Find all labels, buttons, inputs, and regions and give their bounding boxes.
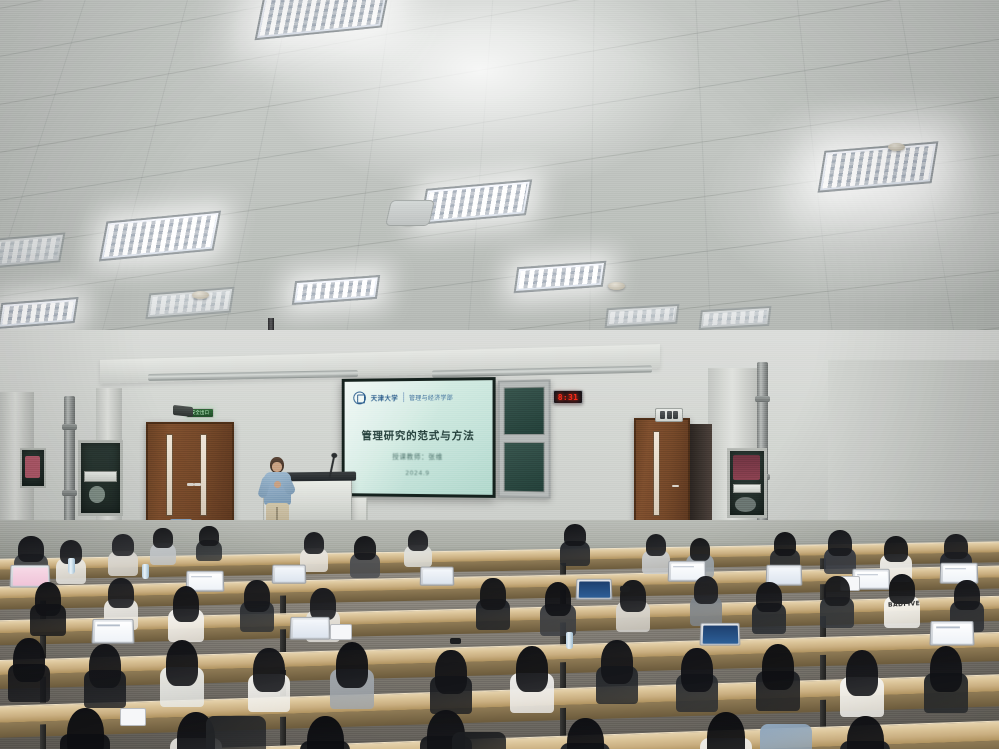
student — [560, 524, 590, 564]
light-switch-panel[interactable] — [655, 408, 683, 422]
student-hair — [408, 530, 429, 551]
student — [404, 530, 432, 566]
student — [596, 640, 638, 702]
student — [196, 526, 222, 560]
clock-time: 8:31 — [558, 393, 578, 402]
student — [924, 646, 968, 710]
lecturer-face — [272, 462, 282, 472]
student — [350, 536, 380, 576]
projection-screen: 天津大学 管理与经济学部 管理研究的范式与方法 授课教师：张维 2024.9 — [342, 377, 496, 498]
ceiling — [0, 0, 999, 372]
student-hair — [889, 574, 916, 604]
chalkboard-panel-upper — [504, 387, 545, 435]
student-hair — [774, 532, 796, 556]
student-hair — [681, 648, 712, 692]
student-hair — [944, 534, 968, 559]
lecturer-hand — [274, 481, 281, 488]
desk-leg — [560, 662, 566, 688]
tablet-device[interactable] — [330, 624, 352, 640]
student-hair — [690, 538, 711, 561]
student-hair — [707, 712, 745, 749]
student-hair — [108, 578, 133, 608]
slide-title: 管理研究的范式与方法 — [345, 428, 493, 443]
student — [820, 576, 854, 626]
student — [240, 580, 274, 630]
laptop[interactable] — [420, 567, 455, 586]
student — [60, 708, 110, 749]
laptop-lid — [91, 619, 134, 644]
phone-device[interactable] — [450, 638, 461, 644]
slide-surface: 天津大学 管理与经济学部 管理研究的范式与方法 授课教师：张维 2024.9 — [345, 380, 493, 495]
student — [300, 716, 350, 749]
switch-toggle[interactable] — [660, 411, 665, 419]
desk-leg — [40, 724, 46, 749]
student — [510, 646, 554, 710]
student-hair — [620, 580, 645, 612]
student — [824, 530, 856, 572]
notice-board-left — [78, 440, 123, 516]
student-hair — [435, 650, 466, 694]
water-bottle — [68, 558, 75, 574]
student — [676, 648, 718, 710]
student-hair — [173, 586, 200, 622]
student — [840, 716, 890, 749]
student-hair — [199, 526, 218, 546]
student — [840, 650, 884, 714]
student-hair — [304, 532, 325, 554]
student-hair — [762, 644, 795, 690]
laptop[interactable] — [91, 619, 134, 644]
student-hair — [545, 582, 572, 616]
laptop[interactable] — [576, 579, 613, 600]
student — [476, 578, 510, 628]
student — [8, 638, 50, 700]
laptop-screen[interactable] — [932, 623, 972, 643]
student-hair — [601, 640, 632, 684]
laptop-screen[interactable] — [94, 621, 132, 641]
student-hair — [824, 576, 849, 606]
student-hair — [67, 708, 104, 749]
laptop-screen[interactable] — [292, 619, 328, 637]
laptop-lid — [700, 623, 741, 646]
student-hair — [564, 524, 586, 546]
student-hair — [35, 582, 62, 616]
school-name: 管理与经济学部 — [409, 392, 453, 401]
university-name: 天津大学 — [371, 392, 398, 402]
desk-leg — [820, 700, 826, 729]
desk-leg — [820, 655, 826, 681]
laptop-screen[interactable] — [942, 565, 976, 581]
tablet-device[interactable] — [120, 708, 146, 726]
backpack — [452, 732, 506, 749]
desk-leg — [280, 717, 286, 746]
water-bottle — [566, 632, 573, 649]
student-hair — [828, 530, 852, 556]
student-hair — [153, 528, 172, 548]
student — [430, 650, 472, 712]
student — [248, 648, 290, 710]
laptop-screen[interactable] — [578, 581, 610, 597]
student-hair — [516, 646, 549, 692]
laptop[interactable] — [929, 621, 974, 646]
smoke-detector-icon — [192, 291, 209, 299]
student — [700, 712, 752, 749]
chalkboard — [498, 379, 551, 498]
laptop-lid — [290, 617, 331, 640]
student — [690, 576, 722, 624]
student-hair — [694, 576, 718, 604]
laptop[interactable] — [272, 565, 307, 584]
header-divider — [403, 392, 404, 402]
student-hair — [112, 534, 134, 556]
student-hair — [336, 642, 369, 688]
student — [642, 534, 670, 572]
switch-toggle[interactable] — [667, 411, 672, 419]
student-hair — [354, 536, 376, 560]
student-hair — [930, 646, 963, 692]
smoke-detector-icon — [888, 143, 905, 151]
ceiling-vent — [385, 200, 435, 226]
student-hair — [847, 716, 884, 749]
slide-subtitle: 授课教师：张维 — [345, 451, 493, 462]
student-hair — [13, 638, 44, 682]
laptop-screen[interactable] — [274, 567, 303, 581]
student-hair — [567, 718, 604, 749]
backpack — [206, 716, 266, 749]
student — [30, 582, 66, 634]
student — [540, 582, 576, 634]
backpack — [760, 724, 812, 749]
laptop[interactable] — [290, 617, 331, 640]
student-hair — [646, 534, 667, 556]
student — [330, 642, 374, 706]
student-hair — [884, 536, 908, 562]
laptop-lid — [576, 579, 613, 600]
student-hair — [846, 650, 879, 696]
student — [150, 528, 176, 564]
student-hair — [954, 580, 979, 610]
switch-toggle[interactable] — [673, 411, 678, 419]
digital-clock: 8:31 — [553, 390, 583, 404]
notice-board-right — [727, 448, 767, 518]
laptop-screen[interactable] — [422, 569, 451, 583]
student-hair — [310, 588, 335, 620]
student — [560, 718, 610, 749]
laptop[interactable] — [700, 623, 741, 646]
student-hair — [756, 582, 781, 612]
student — [756, 644, 800, 708]
lecture-hall-photo: 安全出口 天津大学 管理与经济学部 管理研究的范式与方法 授课教师：张维 202… — [0, 0, 999, 749]
laptop-screen[interactable] — [768, 567, 800, 583]
exit-sign-label: 安全出口 — [191, 410, 209, 416]
laptop-lid — [420, 567, 455, 586]
notice-board-far-left — [20, 448, 46, 488]
university-logo-icon — [353, 391, 366, 404]
student — [84, 644, 126, 706]
student — [108, 534, 138, 574]
smoke-detector-icon — [608, 282, 625, 290]
student-hair — [89, 644, 120, 688]
student-hair — [166, 640, 199, 686]
laptop-screen[interactable] — [702, 625, 738, 643]
student-hair — [253, 648, 284, 692]
student: BADFIVE — [884, 574, 920, 626]
speaker-left — [173, 405, 193, 417]
chalkboard-panel-lower — [504, 442, 545, 492]
slide-date: 2024.9 — [345, 470, 493, 478]
student-hair — [307, 716, 344, 749]
student — [168, 586, 204, 640]
student-hair — [18, 536, 43, 562]
water-bottle — [142, 564, 149, 579]
student — [752, 582, 786, 632]
student-hair — [244, 580, 269, 612]
slide-header: 天津大学 管理与经济学部 — [353, 388, 483, 405]
student-hair — [480, 578, 505, 610]
laptop-lid — [272, 565, 307, 584]
student — [160, 640, 204, 704]
student-seating-area: BADFIVE — [0, 520, 999, 749]
laptop-lid — [929, 621, 974, 646]
phone-device[interactable] — [620, 586, 630, 592]
